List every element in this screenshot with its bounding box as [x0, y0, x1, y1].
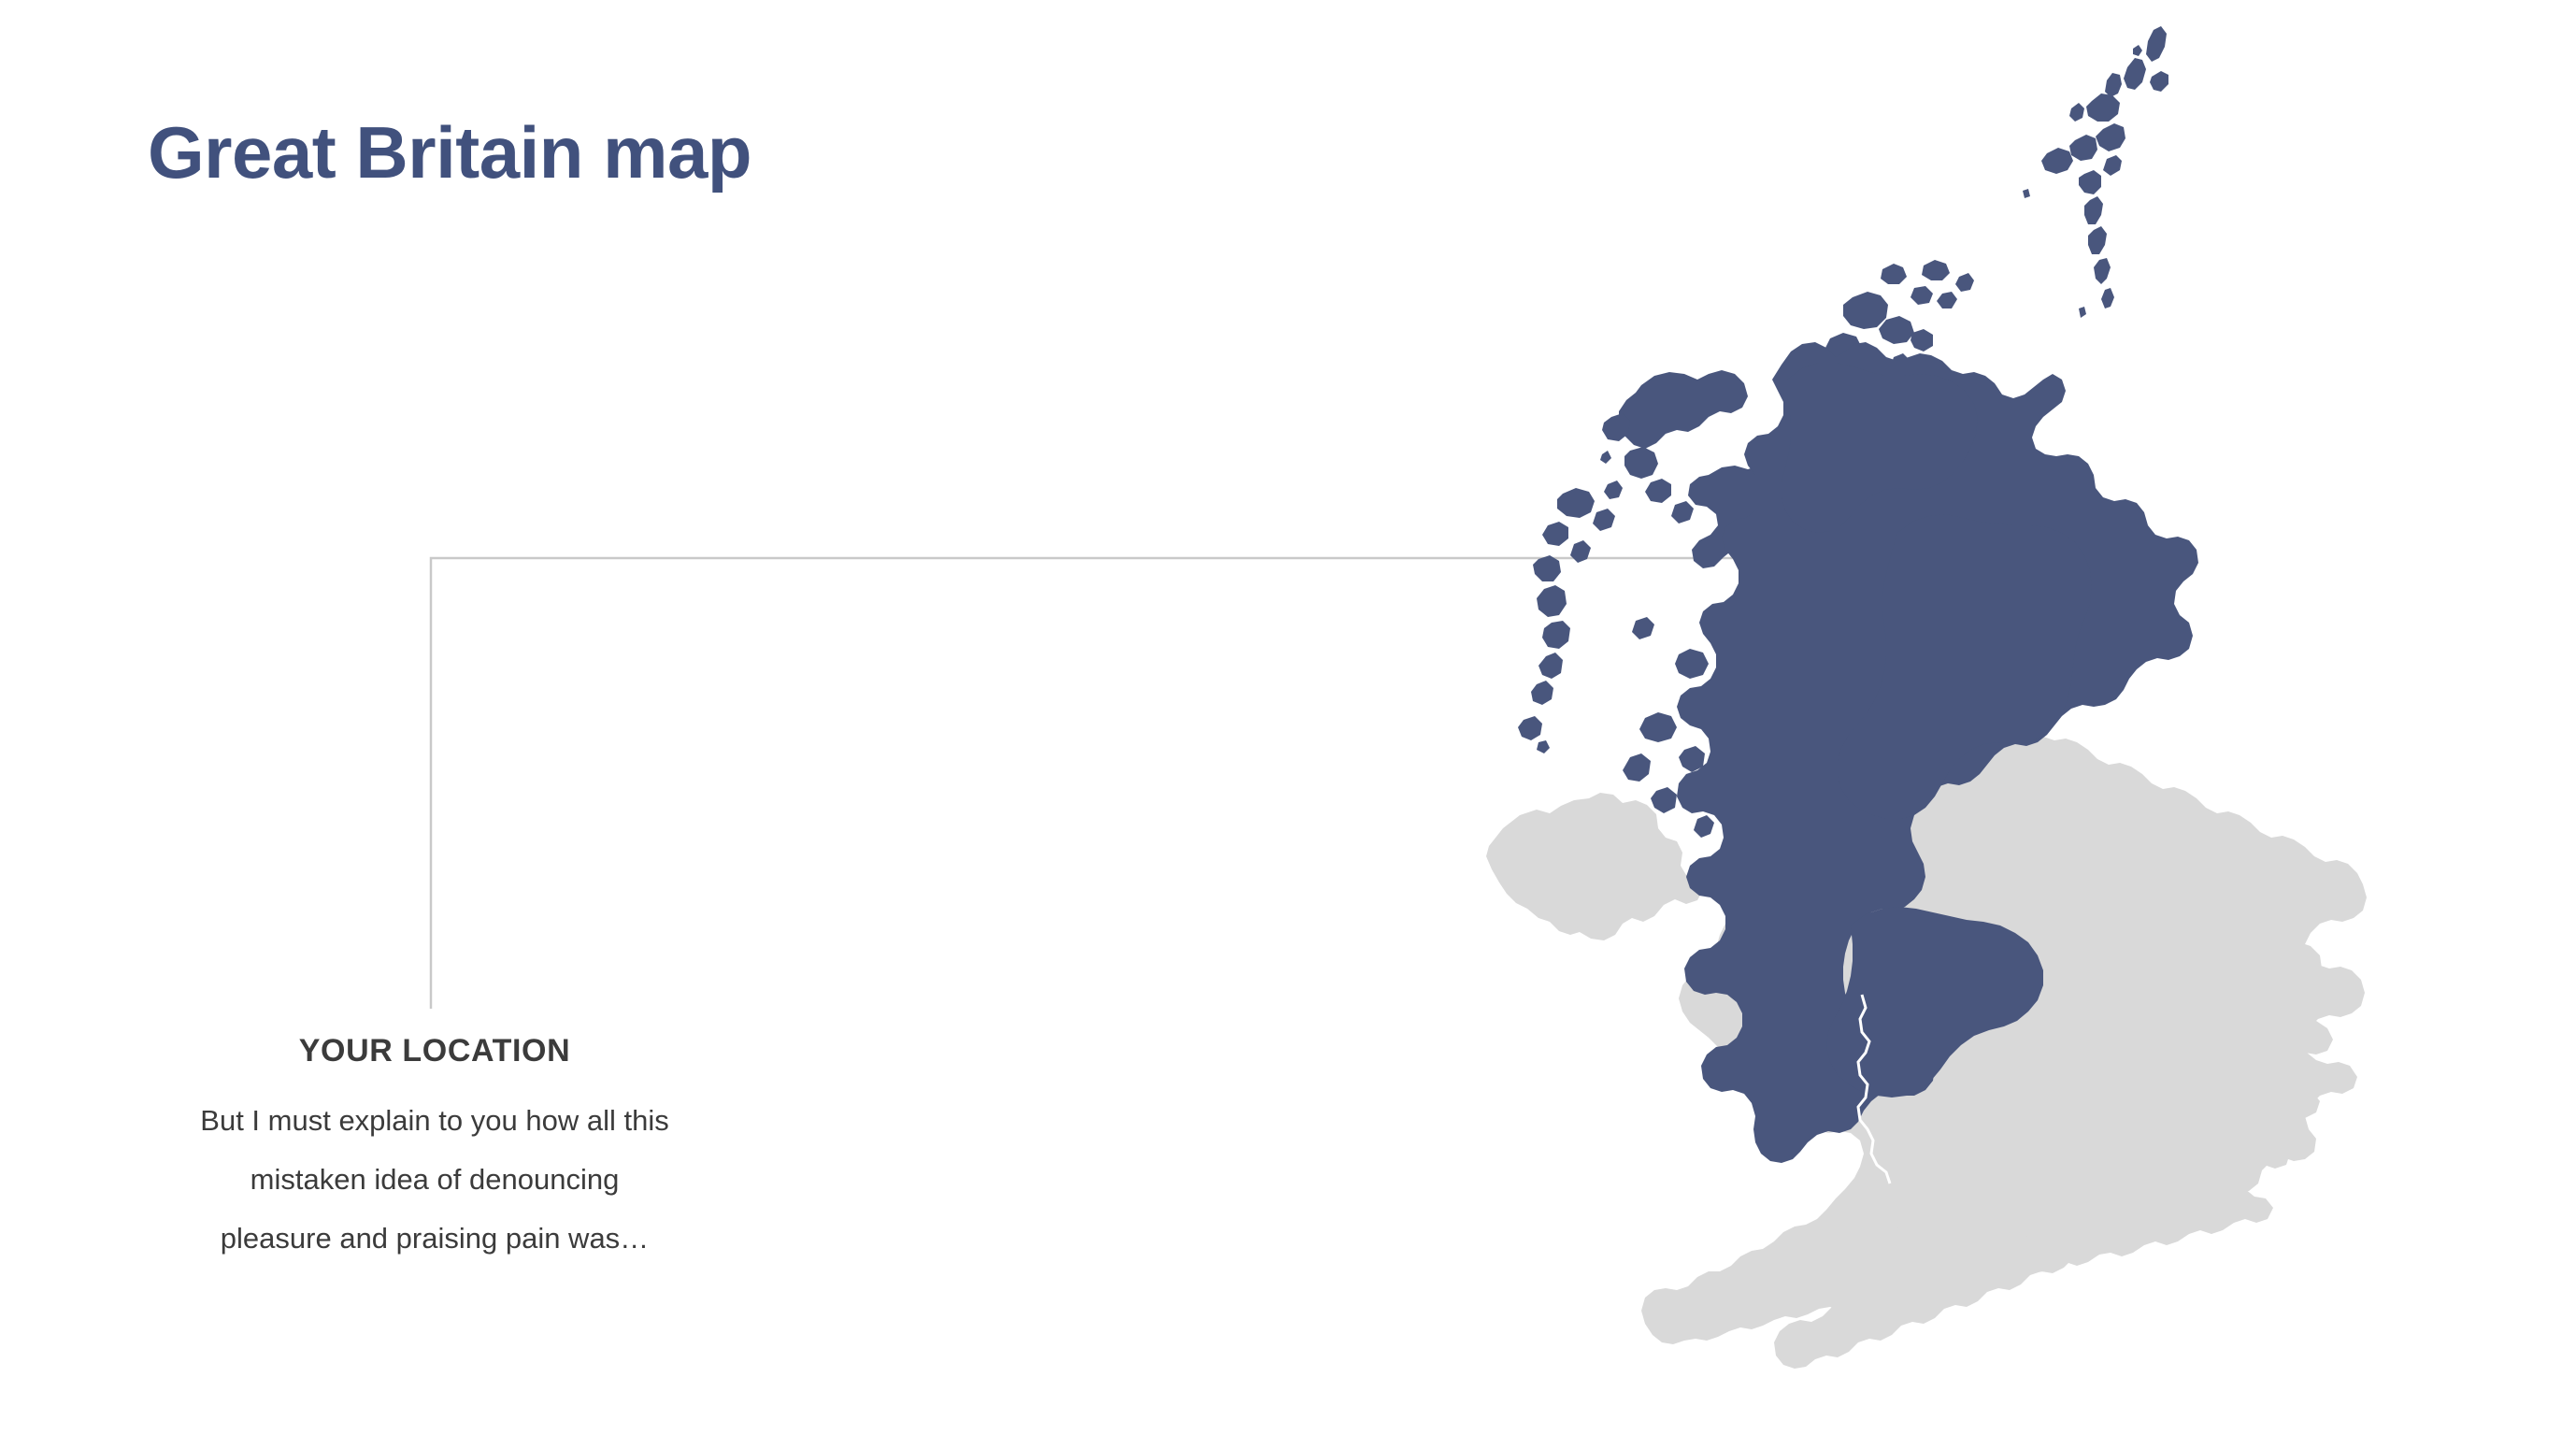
callout-body: But I must explain to you how all this m… — [112, 1103, 757, 1256]
map-region-shetland-islands[interactable] — [2023, 26, 2168, 318]
great-britain-map — [1458, 9, 2402, 1430]
slide-canvas: Great Britain map YOUR LOCATION But I mu… — [0, 0, 2576, 1449]
callout-body-line-2: mistaken idea of denouncing — [112, 1162, 757, 1197]
callout-block: YOUR LOCATION But I must explain to you … — [112, 1033, 757, 1256]
map-region-northern-ireland[interactable] — [1486, 793, 1703, 940]
callout-heading: YOUR LOCATION — [112, 1033, 757, 1069]
page-title: Great Britain map — [148, 110, 751, 195]
callout-body-line-3: pleasure and praising pain was… — [112, 1221, 757, 1255]
callout-body-line-1: But I must explain to you how all this — [112, 1103, 757, 1138]
